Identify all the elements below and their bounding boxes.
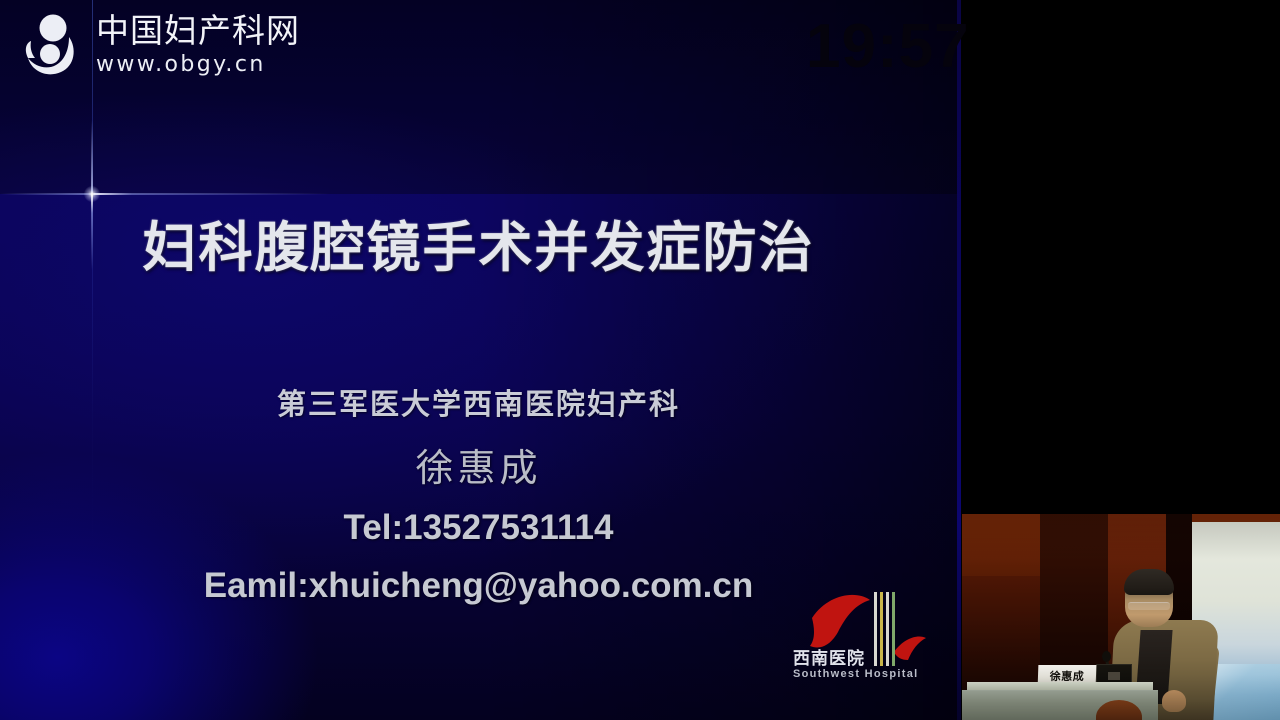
slide-title: 妇科腹腔镜手术并发症防治 xyxy=(0,203,957,282)
slide-body: 第三军医大学西南医院妇产科 徐惠成 Tel:13527531114 Eamil:… xyxy=(0,386,957,607)
presentation-slide: 妇科腹腔镜手术并发症防治 第三军医大学西南医院妇产科 徐惠成 Tel:13527… xyxy=(0,0,957,720)
presenter-phone: Tel:13527531114 xyxy=(0,507,957,549)
site-logo: 中国妇产科网 www.obgy.cn xyxy=(22,12,300,78)
blue-edge-strip xyxy=(957,0,961,720)
clock-timestamp: 19:57 xyxy=(806,11,970,82)
right-pane: 徐惠成 xyxy=(957,0,1280,720)
microphone-head-icon xyxy=(1102,651,1111,662)
hospital-logo: 西南医院 Southwest Hospital xyxy=(790,588,935,693)
affiliation-text: 第三军医大学西南医院妇产科 xyxy=(0,386,957,424)
presenter-name: 徐惠成 xyxy=(0,446,957,492)
speaker-camera-feed: 徐惠成 xyxy=(962,514,1280,720)
speaker-hair xyxy=(1124,569,1174,595)
site-url: www.obgy.cn xyxy=(96,54,300,76)
hospital-name-cn: 西南医院 xyxy=(793,644,865,669)
mother-child-logo-icon xyxy=(22,12,84,78)
video-player-stage: 妇科腹腔镜手术并发症防治 第三军医大学西南医院妇产科 徐惠成 Tel:13527… xyxy=(0,0,1280,720)
sparkle-horizontal-ray xyxy=(0,193,330,195)
speaker-glasses-icon xyxy=(1128,602,1170,610)
site-name-cn: 中国妇产科网 xyxy=(96,14,300,47)
site-logo-text: 中国妇产科网 www.obgy.cn xyxy=(96,14,300,76)
hospital-name-en: Southwest Hospital xyxy=(793,668,918,680)
podium-laptop-screen xyxy=(1108,672,1120,680)
speaker-hand xyxy=(1162,690,1186,712)
sparkle-core-icon xyxy=(84,186,100,202)
